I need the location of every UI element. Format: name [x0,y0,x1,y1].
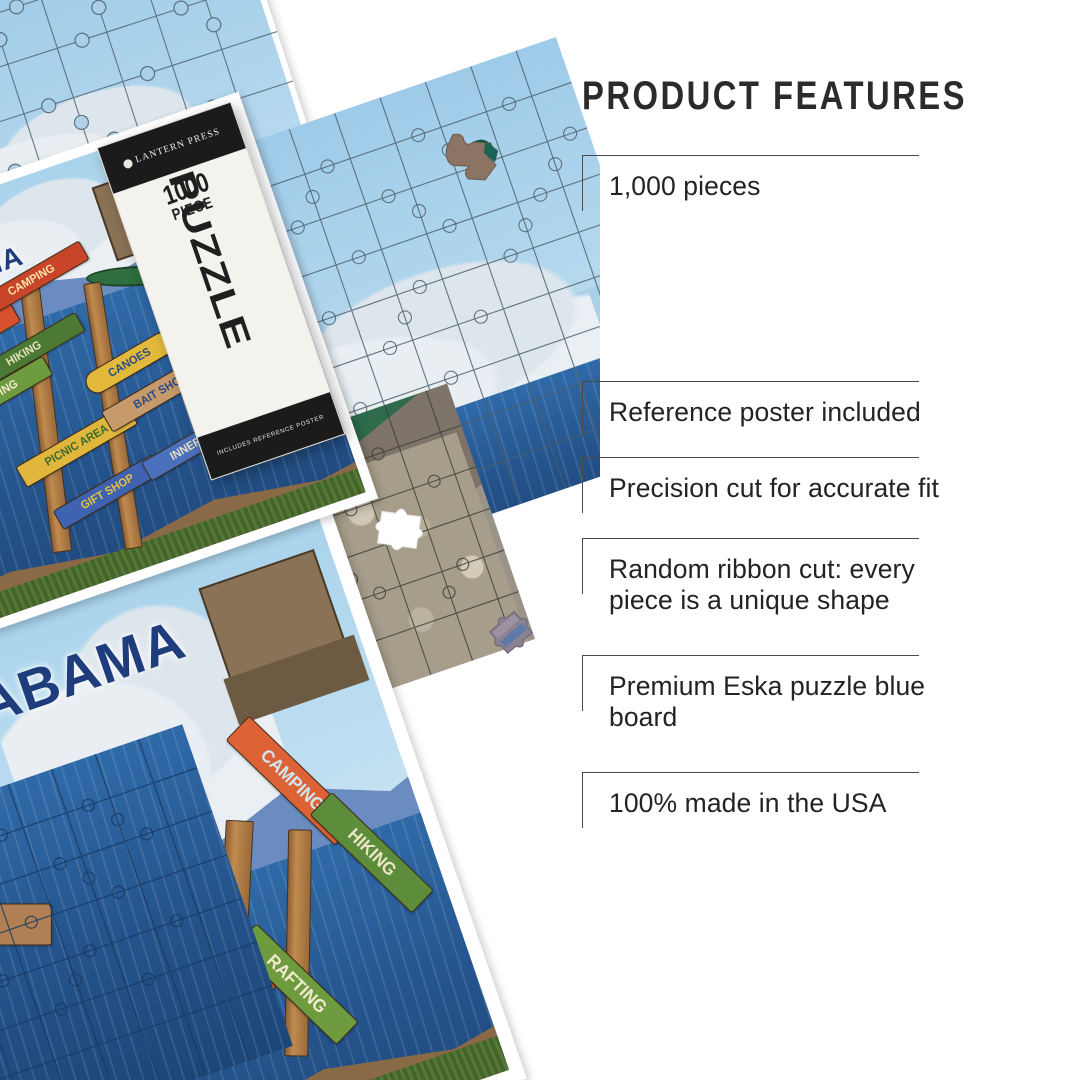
sign-bait-shop: BAIT SHOP [0,904,52,946]
feature-tick [582,457,583,513]
box-brand-label: LANTERN PRESS [134,127,221,165]
feature-rule [582,655,919,656]
feature-text: Random ribbon cut: every piece is a uniq… [609,554,957,616]
feature-rule [582,538,919,539]
feature-text: Premium Eska puzzle blue board [609,671,957,733]
lantern-press-logo-icon [122,158,133,169]
feature-tick [582,655,583,711]
loose-puzzle-piece [369,496,432,557]
feature-rule [582,381,919,382]
product-features-panel: PRODUCT FEATURES 1,000 pieces Reference … [575,0,1080,1080]
feature-tick [582,381,583,437]
feature-text: Reference poster included [609,397,957,428]
feature-rule [582,457,919,458]
feature-tick [582,538,583,594]
feature-rule [582,155,919,156]
feature-tick [582,772,583,828]
feature-text: 1,000 pieces [609,171,957,202]
feature-tick [582,155,583,211]
product-feature-image: AL [0,0,1080,1080]
feature-text: 100% made in the USA [609,788,957,819]
puzzle-photo: AL [0,0,600,1080]
feature-rule [582,772,919,773]
page-title: PRODUCT FEATURES [582,76,967,116]
feature-text: Precision cut for accurate fit [609,473,957,504]
